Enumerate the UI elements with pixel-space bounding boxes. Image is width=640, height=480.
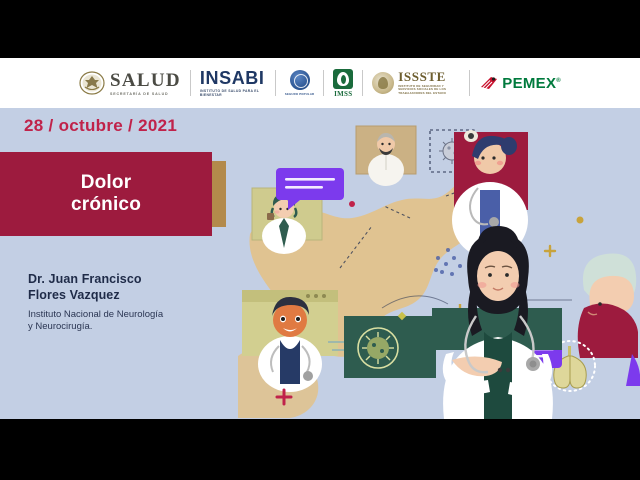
salud-subtitle: SECRETARÍA DE SALUD <box>110 92 168 96</box>
speaker-affiliation: Instituto Nacional de Neurología y Neuro… <box>28 309 238 334</box>
dot-marker-gold <box>577 217 584 224</box>
insabi-subtitle: INSTITUTO DE SALUD PARA EL BIENESTAR <box>200 89 266 98</box>
imss-block: IMSS <box>333 69 353 98</box>
logo-pemex: PEMEX® <box>470 74 570 92</box>
header-logo-bar: SALUD SECRETARÍA DE SALUD INSABI INSTITU… <box>0 58 640 108</box>
elderly-patient <box>578 253 640 386</box>
slide-body: 28 / octubre / 2021 Dolor crónico Dr. Ju… <box>0 108 640 419</box>
window-controls-icon <box>306 294 326 298</box>
doctor-female-foreground <box>432 226 562 419</box>
speaker-block: Dr. Juan Francisco Flores Vazquez Instit… <box>28 271 238 334</box>
pemex-registered-mark: ® <box>556 78 561 84</box>
blue-seal-block: SEGURO POPULAR <box>285 70 314 96</box>
logo-seguro-popular: SEGURO POPULAR <box>276 70 323 96</box>
pemex-eagle-icon <box>479 74 499 92</box>
imss-wordmark: IMSS <box>334 90 352 98</box>
plus-marker-gold <box>545 246 555 256</box>
square-marker-brown <box>267 213 274 220</box>
title-line-1: Dolor <box>71 172 141 194</box>
virus-icon-green-panel <box>328 312 436 378</box>
pemex-wordmark: PEMEX® <box>502 75 561 92</box>
logo-insabi: INSABI INSTITUTO DE SALUD PARA EL BIENES… <box>191 69 275 98</box>
insabi-text-block: INSABI INSTITUTO DE SALUD PARA EL BIENES… <box>200 69 266 98</box>
logo-salud: SALUD SECRETARÍA DE SALUD <box>70 71 190 96</box>
event-date: 28 / octubre / 2021 <box>24 116 177 136</box>
issste-subtitle: INSTITUTO DE SEGURIDAD Y SERVICIOS SOCIA… <box>398 85 460 96</box>
issste-wordmark: ISSSTE <box>398 70 446 83</box>
insabi-wordmark: INSABI <box>200 69 265 87</box>
title-accent-bar <box>212 161 226 227</box>
mexico-eagle-seal-icon <box>79 71 105 95</box>
issste-seal-icon <box>372 72 394 94</box>
page-title: Dolor crónico <box>71 172 141 217</box>
title-line-2: crónico <box>71 194 141 216</box>
slide-stage: SALUD SECRETARÍA DE SALUD INSABI INSTITU… <box>0 0 640 480</box>
video-call-window-doctor-bearded <box>356 126 416 186</box>
imss-eagle-icon <box>333 69 353 89</box>
illustration-canvas <box>232 108 640 419</box>
logo-issste: ISSSTE INSTITUTO DE SEGURIDAD Y SERVICIO… <box>363 70 469 96</box>
letterbox-top <box>0 0 640 58</box>
issste-text-block: ISSSTE INSTITUTO DE SEGURIDAD Y SERVICIO… <box>398 70 460 96</box>
letterbox-bottom <box>0 419 640 480</box>
blue-seal-subtitle: SEGURO POPULAR <box>285 92 314 96</box>
telemedicine-illustration <box>232 108 640 419</box>
title-band: Dolor crónico <box>0 152 212 236</box>
pemex-wordmark-text: PEMEX <box>502 75 556 92</box>
speaker-name: Dr. Juan Francisco Flores Vazquez <box>28 271 238 304</box>
speaker-affiliation-line-2: y Neurocirugía. <box>28 321 238 334</box>
speaker-name-line-2: Flores Vazquez <box>28 287 238 303</box>
logo-row: SALUD SECRETARÍA DE SALUD INSABI INSTITU… <box>70 69 570 98</box>
speaker-name-line-1: Dr. Juan Francisco <box>28 271 238 287</box>
salud-text-block: SALUD SECRETARÍA DE SALUD <box>110 71 181 96</box>
dot-marker-pink <box>349 201 355 207</box>
logo-imss: IMSS <box>324 69 362 98</box>
speaker-affiliation-line-1: Instituto Nacional de Neurología <box>28 309 238 322</box>
salud-wordmark: SALUD <box>110 71 181 90</box>
blue-seal-icon <box>290 70 310 90</box>
